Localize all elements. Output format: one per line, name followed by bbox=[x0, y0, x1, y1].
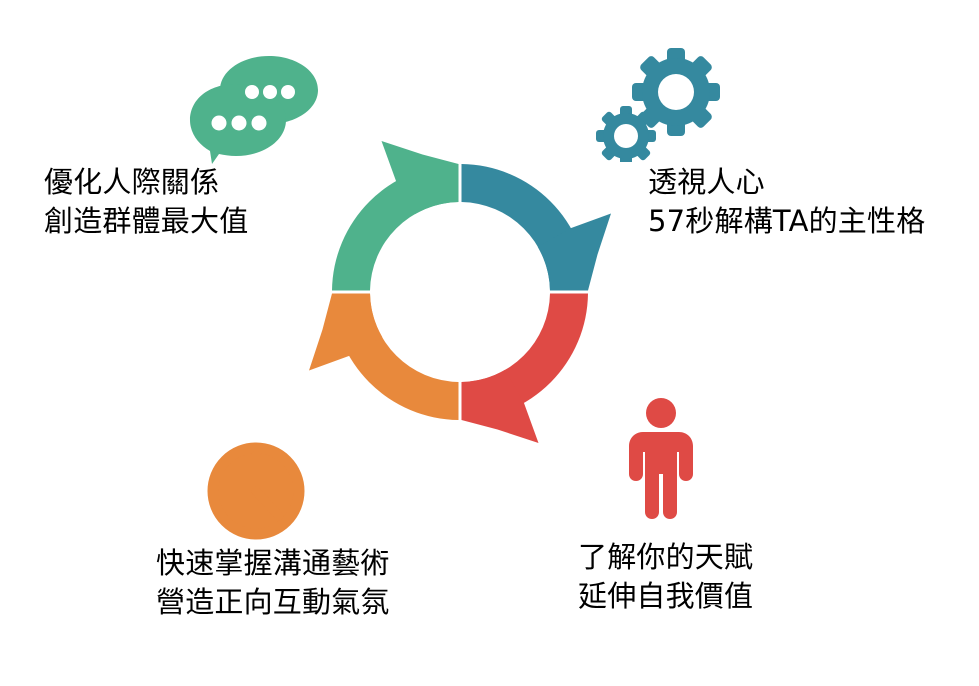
label-communication: 快速掌握溝通藝術 營造正向互動氣氛 bbox=[156, 544, 390, 622]
label-relations-line1: 優化人際關係 bbox=[44, 163, 248, 202]
speech-bubbles-icon bbox=[186, 52, 328, 166]
label-insight-line1: 透視人心 bbox=[648, 163, 925, 202]
person-icon bbox=[616, 396, 706, 522]
person-body bbox=[629, 432, 693, 519]
speech-dots-lower bbox=[212, 116, 267, 131]
label-talent-line2: 延伸自我價值 bbox=[578, 577, 753, 616]
label-insight: 透視人心 57秒解構TA的主性格 bbox=[648, 163, 925, 241]
speech-dots-upper bbox=[245, 85, 295, 99]
gears-icon bbox=[596, 48, 728, 162]
label-talent-line1: 了解你的天賦 bbox=[578, 538, 753, 577]
label-relations: 優化人際關係 創造群體最大值 bbox=[44, 163, 248, 241]
label-insight-line2: 57秒解構TA的主性格 bbox=[648, 202, 925, 241]
label-communication-line2: 營造正向互動氣氛 bbox=[156, 583, 390, 622]
label-talent: 了解你的天賦 延伸自我價值 bbox=[578, 538, 753, 616]
label-communication-line1: 快速掌握溝通藝術 bbox=[156, 544, 390, 583]
clock-icon bbox=[202, 436, 310, 546]
person-head bbox=[646, 398, 676, 428]
cycle-diagram-svg bbox=[296, 96, 626, 492]
infographic-canvas: 優化人際關係 創造群體最大值 透視人心 57秒解構TA的主性格 快速掌握溝通藝術… bbox=[0, 0, 979, 686]
label-relations-line2: 創造群體最大值 bbox=[44, 202, 248, 241]
cycle-diagram bbox=[296, 96, 626, 492]
